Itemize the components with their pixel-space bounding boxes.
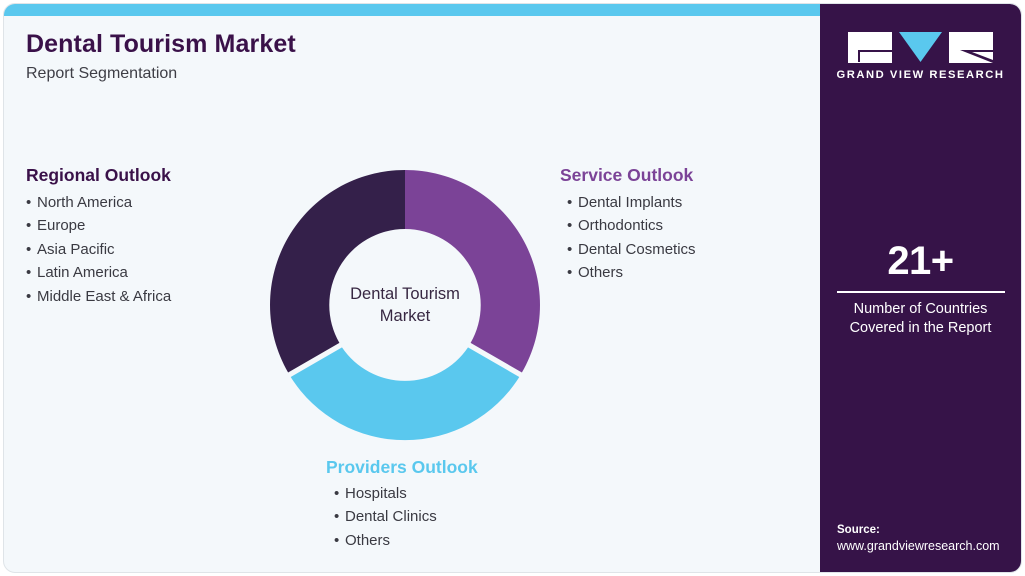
bullet-icon: •: [26, 214, 37, 238]
donut-chart-svg: [262, 162, 548, 448]
list-item-label: Asia Pacific: [37, 241, 115, 258]
stat-caption-line-1: Number of Countries: [820, 300, 1021, 319]
providers-outlook-block: Providers Outlook •Hospitals •Dental Cli…: [326, 457, 478, 552]
stat-value: 21+: [820, 240, 1021, 282]
list-item: •Latin America: [26, 261, 171, 285]
list-item: •Others: [334, 529, 478, 553]
list-item: •Orthodontics: [560, 214, 696, 238]
page-title: Dental Tourism Market: [26, 30, 626, 59]
list-item-label: Dental Clinics: [345, 508, 437, 525]
list-item-label: Hospitals: [345, 485, 407, 502]
list-item-label: Others: [578, 264, 623, 281]
list-item: •Dental Implants: [560, 191, 696, 215]
service-outlook-heading: Service Outlook: [560, 165, 696, 187]
donut-segment-regional: [270, 170, 405, 373]
stat-block: 21+ Number of Countries Covered in the R…: [820, 240, 1021, 338]
donut-chart: Dental Tourism Market: [262, 162, 548, 448]
stat-divider: [837, 291, 1005, 293]
bullet-icon: •: [26, 285, 37, 309]
bullet-icon: •: [567, 191, 578, 215]
list-item: •Hospitals: [334, 482, 478, 506]
providers-outlook-list: •Hospitals •Dental Clinics •Others: [326, 482, 478, 553]
list-item: •Dental Clinics: [334, 505, 478, 529]
gvr-logo-mark-icon: [848, 32, 993, 63]
top-accent-bar: [4, 4, 822, 16]
regional-outlook-list: •North America •Europe •Asia Pacific •La…: [26, 191, 171, 309]
list-item: •North America: [26, 191, 171, 215]
regional-outlook-heading: Regional Outlook: [26, 165, 171, 187]
bullet-icon: •: [26, 238, 37, 262]
list-item-label: Dental Implants: [578, 194, 682, 211]
list-item-label: Orthodontics: [578, 217, 663, 234]
list-item-label: Europe: [37, 217, 85, 234]
bullet-icon: •: [334, 482, 345, 506]
bullet-icon: •: [334, 505, 345, 529]
content-panel: Dental Tourism Market Report Segmentatio…: [3, 3, 1022, 573]
bullet-icon: •: [567, 238, 578, 262]
brand-logo: GRAND VIEW RESEARCH: [820, 32, 1021, 81]
list-item-label: North America: [37, 194, 132, 211]
source-url[interactable]: www.grandviewresearch.com: [837, 538, 1021, 555]
stat-caption-line-2: Covered in the Report: [820, 319, 1021, 338]
list-item-label: Middle East & Africa: [37, 288, 171, 305]
list-item: •Europe: [26, 214, 171, 238]
bullet-icon: •: [26, 191, 37, 215]
bullet-icon: •: [567, 214, 578, 238]
bullet-icon: •: [26, 261, 37, 285]
service-outlook-block: Service Outlook •Dental Implants •Orthod…: [560, 165, 696, 285]
list-item-label: Latin America: [37, 264, 128, 281]
donut-segment-service: [405, 170, 540, 373]
page-subtitle: Report Segmentation: [26, 64, 626, 83]
service-outlook-list: •Dental Implants •Orthodontics •Dental C…: [560, 191, 696, 285]
donut-segment-providers: [291, 347, 520, 440]
list-item: •Middle East & Africa: [26, 285, 171, 309]
source-label: Source:: [837, 522, 1021, 538]
sidebar: GRAND VIEW RESEARCH 21+ Number of Countr…: [820, 4, 1021, 573]
infographic-canvas: Dental Tourism Market Report Segmentatio…: [0, 0, 1025, 576]
list-item: •Asia Pacific: [26, 238, 171, 262]
brand-wordmark: GRAND VIEW RESEARCH: [820, 70, 1021, 81]
list-item: •Dental Cosmetics: [560, 238, 696, 262]
providers-outlook-heading: Providers Outlook: [326, 457, 478, 479]
bullet-icon: •: [334, 529, 345, 553]
list-item: •Others: [560, 261, 696, 285]
header: Dental Tourism Market Report Segmentatio…: [26, 30, 626, 83]
list-item-label: Others: [345, 532, 390, 549]
regional-outlook-block: Regional Outlook •North America •Europe …: [26, 165, 171, 308]
list-item-label: Dental Cosmetics: [578, 241, 696, 258]
source-block: Source: www.grandviewresearch.com: [837, 522, 1021, 555]
bullet-icon: •: [567, 261, 578, 285]
